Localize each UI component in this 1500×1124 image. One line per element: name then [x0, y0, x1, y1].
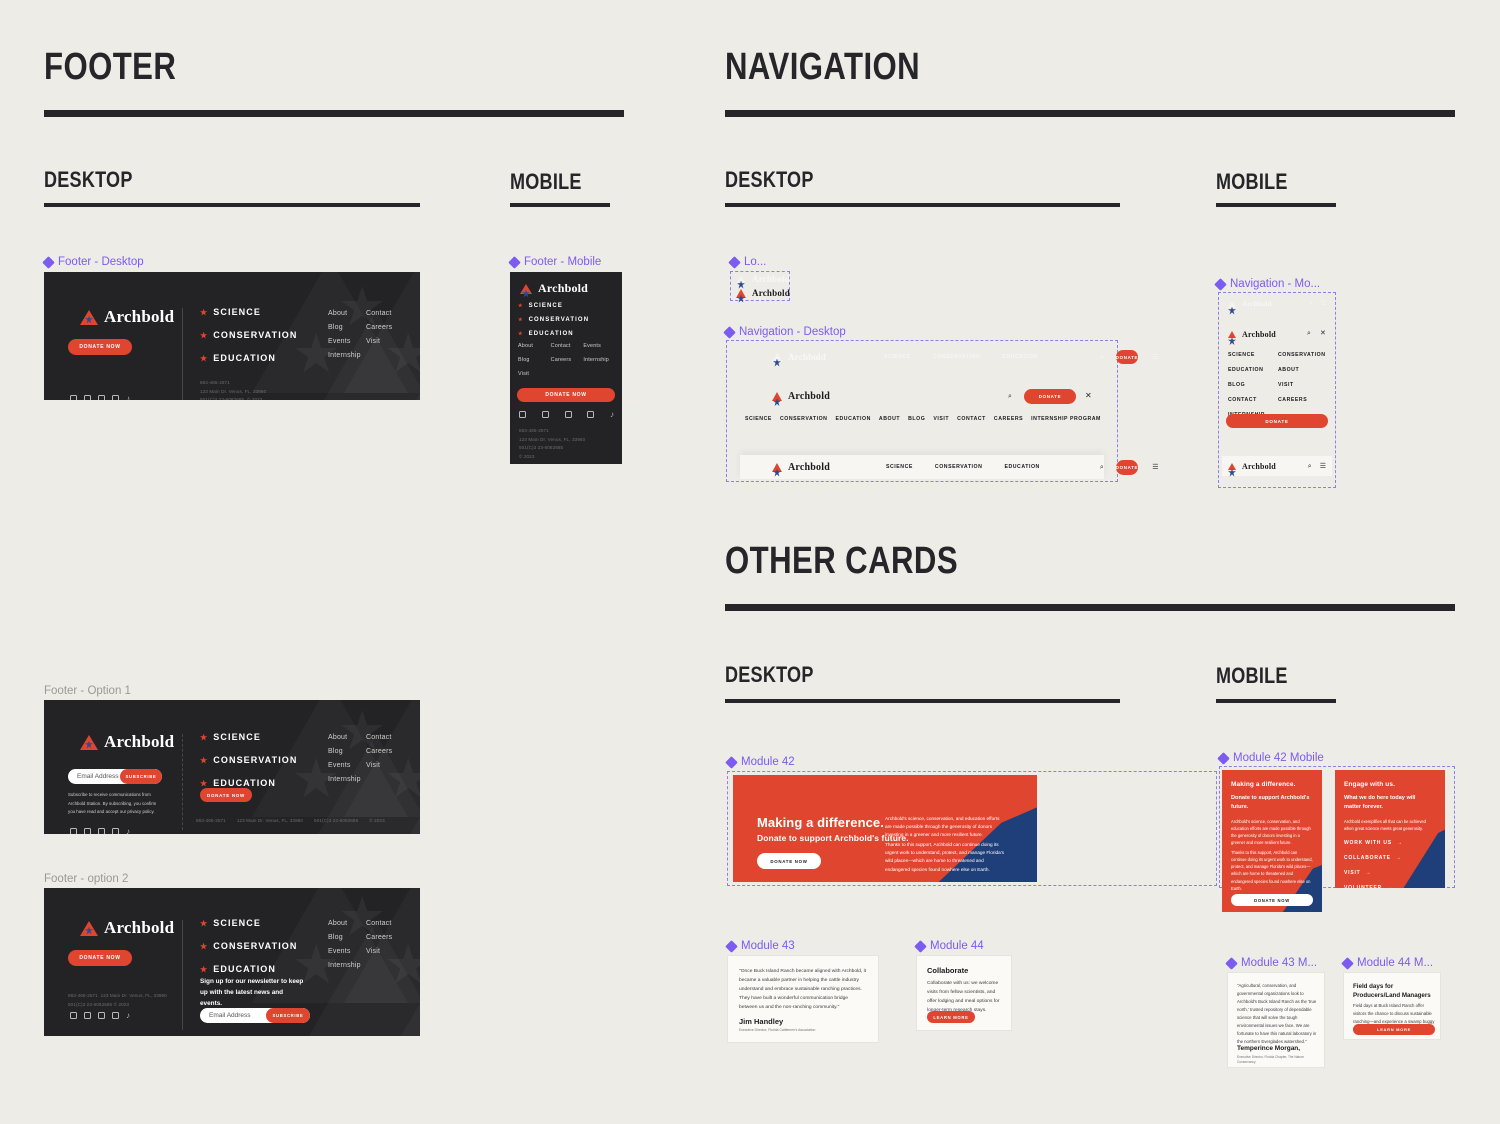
footer-mobile-donate-button[interactable]: DONATE NOW: [517, 388, 615, 402]
module-44-card: Collaborate Collaborate with us: we welc…: [916, 955, 1012, 1031]
figma-label-text: Lo...: [744, 256, 766, 268]
nav-item-visit[interactable]: VISIT: [1278, 382, 1328, 388]
footer-link-careers[interactable]: Careers: [551, 357, 584, 363]
footer-primary-nav: ★SCIENCE ★CONSERVATION ★EDUCATION: [200, 918, 298, 974]
archbold-mark-icon: [772, 463, 782, 472]
footer-link-contact[interactable]: Contact: [366, 310, 392, 317]
nav-mobile-expanded: Archbold ⌕ ✕ SCIENCE CONSERVATION EDUCAT…: [1222, 328, 1332, 438]
nav-desktop-transparent: Archbold SCIENCE CONSERVATION EDUCATION …: [740, 346, 1104, 368]
figma-label-module-44-mobile: Module 44 M...: [1343, 957, 1433, 969]
module-43-mobile-quote: "Agricultural, conservation, and governm…: [1237, 982, 1317, 1046]
archbold-mark-icon: [80, 310, 98, 325]
archbold-wordmark: Archbold: [788, 391, 830, 402]
linkedin-icon[interactable]: [565, 411, 572, 418]
nav-item-conservation[interactable]: CONSERVATION: [780, 416, 828, 422]
footer-address: 123 Main Dr. Venus, FL, 33960: [101, 993, 167, 998]
footer-mobile-primary-nav: ★SCIENCE ★CONSERVATION ★EDUCATION: [518, 303, 589, 337]
module-44-learn-more-button[interactable]: LEARN MORE: [927, 1011, 975, 1023]
archbold-mark-icon: [772, 353, 782, 362]
archbold-wordmark: Archbold: [104, 307, 174, 327]
module-43-mobile-author-role: Executive Director, Florida Chapter, The…: [1237, 1055, 1317, 1066]
footer-links-col-2: Contact Careers Visit: [366, 310, 392, 345]
footer-link-blog[interactable]: Blog: [328, 748, 361, 755]
nav-item-blog[interactable]: BLOG: [1228, 382, 1278, 388]
star-icon: ★: [518, 317, 524, 323]
nav-logo[interactable]: Archbold: [772, 391, 830, 402]
component-diamond-icon: [728, 256, 741, 269]
nav-item-careers[interactable]: CAREERS: [1278, 397, 1328, 403]
footer-link-events[interactable]: Events: [328, 948, 361, 955]
footer-mobile-card: Archbold ★SCIENCE ★CONSERVATION ★EDUCATI…: [510, 272, 622, 464]
footer-nav-science[interactable]: ★SCIENCE: [200, 918, 298, 928]
footer-link-careers[interactable]: Careers: [366, 934, 392, 941]
figma-label-text: Module 42 Mobile: [1233, 752, 1324, 764]
footer-nav-conservation[interactable]: ★CONSERVATION: [200, 941, 298, 951]
instagram-icon[interactable]: [70, 395, 77, 400]
module-42-mobile-card-b: Engage with us. What we do here today wi…: [1335, 770, 1445, 888]
menu-icon[interactable]: ☰: [1320, 463, 1326, 470]
archbold-wordmark: Archbold: [752, 274, 790, 284]
footer-link-events[interactable]: Events: [328, 338, 361, 345]
link-visit[interactable]: VISIT→: [1344, 870, 1403, 876]
star-icon: ★: [200, 756, 208, 765]
subsection-footer-desktop: DESKTOP: [44, 167, 133, 193]
nav-item-science[interactable]: SCIENCE: [884, 354, 911, 360]
footer-link-visit[interactable]: Visit: [366, 948, 392, 955]
component-diamond-icon: [42, 256, 55, 269]
figma-label-footer-desktop: Footer - Desktop: [44, 256, 144, 268]
module-42b-subheading: What we do here today will matter foreve…: [1344, 794, 1434, 812]
section-rule-other-cards: [725, 604, 1455, 611]
nav-item-conservation[interactable]: CONSERVATION: [1278, 352, 1328, 358]
module-42b-paragraph: Archbold exemplifies all that can be ach…: [1344, 818, 1432, 832]
nav-mobile-donate-button[interactable]: DONATE: [1226, 414, 1328, 428]
footer-link-visit[interactable]: Visit: [518, 371, 551, 377]
footer-nav-education[interactable]: ★EDUCATION: [200, 778, 298, 788]
figma-label-module-43-mobile: Module 43 M...: [1227, 957, 1317, 969]
nav-donate-button[interactable]: DONATE: [1024, 389, 1076, 404]
module-42-card: Making a difference. Donate to support A…: [733, 775, 1037, 882]
subscribe-disclaimer: Subscribe to receive communications from…: [68, 791, 162, 817]
archbold-mark-icon: [736, 289, 746, 298]
module-42-donate-button[interactable]: DONATE NOW: [757, 853, 821, 869]
logo-dark-variant: Archbold: [736, 288, 790, 298]
footer-social-links: ♪: [70, 395, 130, 400]
module-42-heading: Making a difference.: [757, 815, 884, 830]
logo-light-variant: Archbold: [736, 274, 790, 284]
facebook-icon[interactable]: [84, 395, 91, 400]
youtube-icon[interactable]: [587, 411, 594, 418]
component-diamond-icon: [723, 326, 736, 339]
nav-logo[interactable]: Archbold: [1228, 330, 1276, 339]
star-icon: ★: [200, 919, 208, 928]
archbold-mark-icon: [1228, 331, 1236, 338]
module-42-mobile-card-a: Making a difference. Donate to support A…: [1222, 770, 1322, 912]
star-icon: ★: [200, 779, 208, 788]
star-icon: ★: [518, 303, 524, 309]
linkedin-icon[interactable]: [98, 395, 105, 400]
footer-link-internship[interactable]: Internship: [328, 776, 361, 783]
archbold-wordmark: Archbold: [752, 288, 790, 298]
newsletter-form[interactable]: Email Address SUBSCRIBE: [200, 1008, 310, 1023]
archbold-wordmark: Archbold: [1242, 300, 1272, 308]
close-icon[interactable]: ✕: [1085, 392, 1092, 400]
star-icon: ★: [200, 331, 208, 340]
arrow-right-icon: →: [1387, 885, 1393, 888]
footer-link-internship[interactable]: Internship: [583, 357, 616, 363]
component-diamond-icon: [1217, 752, 1230, 765]
link-work-with-us[interactable]: WORK WITH US→: [1344, 840, 1403, 846]
figma-label-text: Module 42: [741, 756, 795, 768]
archbold-wordmark: Archbold: [538, 281, 588, 296]
figma-label-nav-desktop: Navigation - Desktop: [725, 326, 846, 338]
footer-mobile-logo[interactable]: Archbold: [520, 281, 588, 296]
footer-phone: 863-465-2571: [200, 379, 266, 388]
label-footer-option-2: Footer - option 2: [44, 873, 128, 885]
archbold-wordmark: Archbold: [1242, 330, 1276, 339]
archbold-wordmark: Archbold: [104, 732, 174, 752]
archbold-mark-icon: [520, 284, 532, 294]
figma-label-text: Footer - Mobile: [524, 256, 601, 268]
nav-item-science[interactable]: SCIENCE: [886, 464, 913, 470]
menu-icon[interactable]: ☰: [1152, 354, 1158, 361]
footer-donate-button[interactable]: DONATE NOW: [68, 950, 132, 966]
subsection-cards-desktop: DESKTOP: [725, 662, 814, 688]
nav-logo[interactable]: Archbold: [772, 462, 830, 473]
archbold-wordmark: Archbold: [788, 352, 826, 362]
youtube-icon[interactable]: [112, 1012, 119, 1019]
footer-divider: [182, 920, 183, 1030]
nav-item-education[interactable]: EDUCATION: [835, 416, 870, 422]
email-input-placeholder[interactable]: Email Address: [200, 1012, 266, 1019]
footer-mobile-nav-science[interactable]: ★SCIENCE: [518, 303, 589, 309]
footer-links-col-1: About Blog Events Internship: [328, 310, 361, 359]
footer-link-about[interactable]: About: [328, 734, 361, 741]
nav-donate-button[interactable]: DONATE: [1116, 460, 1138, 475]
subsection-rule-footer-desktop: [44, 203, 420, 207]
figma-label-module-44: Module 44: [916, 940, 984, 952]
nav-item-internship-program[interactable]: INTERNSHIP PROGRAM: [1031, 416, 1101, 422]
star-icon: ★: [200, 733, 208, 742]
facebook-icon[interactable]: [542, 411, 549, 418]
component-diamond-icon: [914, 940, 927, 953]
newsletter-form[interactable]: Email Address SUBSCRIBE: [68, 769, 162, 784]
archbold-mark-icon: [80, 921, 98, 936]
component-diamond-icon: [1341, 957, 1354, 970]
search-icon[interactable]: ⌕: [1307, 330, 1311, 337]
footer-link-visit[interactable]: Visit: [366, 762, 392, 769]
module-42b-heading: Engage with us.: [1344, 781, 1395, 788]
footer-link-about[interactable]: About: [328, 920, 361, 927]
footer-tax-id: 501(C)3 23-6082685: [314, 817, 358, 826]
module-44-title: Collaborate: [927, 966, 968, 975]
footer-link-contact[interactable]: Contact: [366, 734, 392, 741]
footer-nav-conservation[interactable]: ★CONSERVATION: [200, 755, 298, 765]
instagram-icon[interactable]: [70, 1012, 77, 1019]
footer-link-careers[interactable]: Careers: [366, 748, 392, 755]
figma-label-text: Module 43 M...: [1241, 957, 1317, 969]
star-icon: ★: [200, 308, 208, 317]
arrow-right-icon: →: [1397, 840, 1403, 846]
nav-item-education[interactable]: EDUCATION: [1004, 464, 1039, 470]
figma-label-text: Module 44 M...: [1357, 957, 1433, 969]
footer-link-about[interactable]: About: [328, 310, 361, 317]
nav-mobile-transparent: Archbold ⌕ ☰: [1222, 296, 1332, 312]
close-icon[interactable]: ✕: [1320, 330, 1326, 337]
nav-desktop-expanded: Archbold ⌕ DONATE ✕ SCIENCE CONSERVATION…: [740, 388, 1104, 434]
footer-donate-button[interactable]: DONATE NOW: [200, 788, 252, 802]
star-icon: ★: [200, 942, 208, 951]
archbold-wordmark: Archbold: [788, 462, 830, 473]
component-diamond-icon: [725, 940, 738, 953]
footer-option-1-card: ★ ★ ★ Archbold Email Address SUBSCRIBE S…: [44, 700, 420, 834]
footer-link-contact[interactable]: Contact: [366, 920, 392, 927]
component-diamond-icon: [1214, 278, 1227, 291]
module-43-author-name: Jim Handley: [739, 1017, 783, 1026]
footer-mobile-nav-education[interactable]: ★EDUCATION: [518, 331, 589, 337]
section-title-other-cards: OTHER CARDS: [725, 540, 958, 583]
footer-nav-education[interactable]: ★EDUCATION: [200, 964, 298, 974]
figma-label-logo: Lo...: [730, 256, 766, 268]
subsection-rule-nav-mobile: [1216, 203, 1336, 207]
tiktok-icon[interactable]: ♪: [126, 828, 130, 834]
footer-logo[interactable]: Archbold: [80, 918, 174, 938]
footer-phone: 863-465-2571: [68, 993, 98, 998]
footer-nav-conservation[interactable]: ★CONSERVATION: [200, 330, 298, 340]
star-icon: ★: [518, 331, 524, 337]
subsection-rule-footer-mobile: [510, 203, 610, 207]
module-42-mobile-paragraph-1: Archbold's science, conservation, and ed…: [1231, 818, 1313, 847]
figma-label-text: Footer - Desktop: [58, 256, 144, 268]
linkedin-icon[interactable]: [98, 828, 105, 834]
nav-logo[interactable]: Archbold: [772, 352, 826, 362]
footer-tax-id: 501(C)3 23-6082685: [68, 1002, 112, 1007]
footer-copyright: © 2023: [247, 397, 262, 400]
module-44-mobile-title: Field days for Producers/Land Managers: [1353, 982, 1435, 1001]
footer-phone: 863-465-2571: [519, 427, 585, 436]
youtube-icon[interactable]: [112, 828, 119, 834]
star-icon: ★: [200, 354, 208, 363]
footer-contact-block: 863-465-2571 123 Main Dr. Venus, FL, 339…: [68, 992, 167, 1009]
nav-item-about[interactable]: ABOUT: [879, 416, 900, 422]
footer-mobile-social-links: ♪: [519, 411, 614, 418]
footer-link-events[interactable]: Events: [328, 762, 361, 769]
nav-item-conservation[interactable]: CONSERVATION: [935, 464, 983, 470]
footer-nav-science[interactable]: ★SCIENCE: [200, 732, 298, 742]
nav-logo[interactable]: Archbold: [1228, 300, 1272, 308]
tiktok-icon[interactable]: ♪: [126, 395, 130, 400]
footer-primary-nav: ★SCIENCE ★CONSERVATION ★EDUCATION: [200, 307, 298, 363]
link-volunteer[interactable]: VOLUNTEER→: [1344, 885, 1403, 888]
footer-address: 123 Main Dr. Venus, FL, 33960: [519, 436, 585, 445]
footer-primary-nav: ★SCIENCE ★CONSERVATION ★EDUCATION: [200, 732, 298, 788]
footer-mobile-links: About Contact Events Blog Careers Intern…: [518, 343, 616, 377]
footer-divider: [182, 734, 183, 830]
archbold-mark-icon: [80, 735, 98, 750]
module-42-paragraph-1: Archbold's science, conservation, and ed…: [885, 815, 1007, 840]
figma-label-text: Navigation - Desktop: [739, 326, 846, 338]
archbold-wordmark: Archbold: [104, 918, 174, 938]
footer-link-visit[interactable]: Visit: [366, 338, 392, 345]
footer-link-blog[interactable]: Blog: [328, 934, 361, 941]
search-icon[interactable]: ⌕: [1008, 393, 1012, 400]
subsection-footer-mobile: MOBILE: [510, 169, 582, 195]
tiktok-icon[interactable]: ♪: [610, 411, 614, 418]
nav-desktop-solid: Archbold SCIENCE CONSERVATION EDUCATION …: [740, 455, 1104, 479]
footer-copyright: © 2023: [369, 817, 384, 826]
nav-logo[interactable]: Archbold: [1228, 462, 1276, 471]
nav-item-contact[interactable]: CONTACT: [957, 416, 986, 422]
subscribe-button[interactable]: SUBSCRIBE: [120, 769, 162, 784]
module-42-mobile-heading: Making a difference.: [1231, 781, 1296, 788]
footer-social-links: ♪: [70, 828, 130, 834]
nav-mobile-solid: Archbold ⌕ ☰: [1222, 456, 1332, 476]
module-43-mobile-author-name: Temperince Morgan,: [1237, 1045, 1300, 1052]
footer-copyright: © 2023: [114, 1002, 129, 1007]
figma-label-text: Module 44: [930, 940, 984, 952]
tiktok-icon[interactable]: ♪: [126, 1012, 130, 1019]
module-42-paragraph-2: Thanks to this support, Archbold can con…: [885, 841, 1007, 874]
footer-option-2-card: ★ ★ ★ Archbold DONATE NOW ★SCIENCE ★CONS…: [44, 888, 420, 1036]
footer-logo[interactable]: Archbold: [80, 732, 174, 752]
nav-item-blog[interactable]: BLOG: [908, 416, 925, 422]
instagram-icon[interactable]: [70, 828, 77, 834]
search-icon[interactable]: ⌕: [1308, 463, 1312, 470]
module-43-quote: "Once Buck Island Ranch became aligned w…: [739, 967, 867, 1012]
section-title-navigation: NAVIGATION: [725, 46, 920, 89]
archbold-mark-icon: [1228, 301, 1236, 308]
figma-label-module-42-mobile: Module 42 Mobile: [1219, 752, 1324, 764]
search-icon[interactable]: ⌕: [1309, 301, 1312, 307]
nav-item-conservation[interactable]: CONSERVATION: [933, 354, 981, 360]
archbold-mark-icon: [772, 392, 782, 401]
module-44-mobile-learn-more-button[interactable]: LEARN MORE: [1353, 1024, 1435, 1035]
nav-expanded-items: SCIENCE CONSERVATION EDUCATION ABOUT BLO…: [745, 416, 1101, 422]
module-43-card: "Once Buck Island Ranch became aligned w…: [727, 955, 879, 1043]
module-44-body: Collaborate with us: we welcome visits f…: [927, 979, 1005, 1015]
nav-donate-button[interactable]: DONATE: [1116, 350, 1138, 364]
search-icon[interactable]: ⌕: [1100, 354, 1104, 361]
footer-donate-button[interactable]: DONATE NOW: [68, 339, 132, 355]
module-42b-links: WORK WITH US→ COLLABORATE→ VISIT→ VOLUNT…: [1344, 840, 1403, 888]
subsection-rule-cards-desktop: [725, 699, 1120, 703]
footer-link-contact[interactable]: Contact: [551, 343, 584, 349]
figma-label-text: Navigation - Mo...: [1230, 278, 1320, 290]
figma-label-module-43: Module 43: [727, 940, 795, 952]
footer-link-about[interactable]: About: [518, 343, 551, 349]
footer-contact-block: 863-465-2571 123 Main Dr. Venus, FL, 339…: [200, 379, 266, 400]
facebook-icon[interactable]: [84, 828, 91, 834]
archbold-wordmark: Archbold: [1242, 462, 1276, 471]
footer-mobile-nav-conservation[interactable]: ★CONSERVATION: [518, 317, 589, 323]
nav-item-science[interactable]: SCIENCE: [1228, 352, 1278, 358]
subsection-rule-cards-mobile: [1216, 699, 1336, 703]
footer-address: 123 Main Dr. Venus, FL, 33960: [200, 388, 266, 397]
label-footer-option-1: Footer - Option 1: [44, 685, 131, 697]
star-icon: ★: [200, 965, 208, 974]
subsection-nav-desktop: DESKTOP: [725, 167, 814, 193]
menu-icon[interactable]: ☰: [1321, 301, 1326, 307]
nav-item-education[interactable]: EDUCATION: [1228, 367, 1278, 373]
youtube-icon[interactable]: [112, 395, 119, 400]
figma-label-nav-mobile: Navigation - Mo...: [1216, 278, 1320, 290]
footer-address: 123 Main Dr. Venus, FL, 33960: [237, 817, 303, 826]
footer-mobile-contact: 863-465-2571 123 Main Dr. Venus, FL, 339…: [519, 427, 585, 462]
footer-contact-inline: 863-465-2571 123 Main Dr. Venus, FL, 339…: [196, 817, 385, 826]
subsection-rule-nav-desktop: [725, 203, 1120, 207]
module-42-mobile-donate-button[interactable]: DONATE NOW: [1231, 894, 1313, 906]
figma-label-module-42: Module 42: [727, 756, 795, 768]
component-diamond-icon: [725, 756, 738, 769]
link-collaborate[interactable]: COLLABORATE→: [1344, 855, 1403, 861]
section-rule-navigation: [725, 110, 1455, 117]
nav-item-about[interactable]: ABOUT: [1278, 367, 1328, 373]
newsletter-heading: Sign up for our newsletter to keep up wi…: [200, 977, 305, 1010]
footer-link-careers[interactable]: Careers: [366, 324, 392, 331]
footer-links-col-2: Contact Careers Visit: [366, 734, 392, 769]
module-43-author-role: Executive Director, Florida Cattlemen's …: [739, 1028, 867, 1034]
footer-link-internship[interactable]: Internship: [328, 962, 361, 969]
module-42-mobile-subheading: Donate to support Archbold's future.: [1231, 794, 1311, 812]
nav-item-careers[interactable]: CAREERS: [994, 416, 1023, 422]
arrow-right-icon: →: [1366, 870, 1372, 876]
footer-copyright: © 2023: [519, 453, 585, 462]
figma-label-footer-mobile: Footer - Mobile: [510, 256, 601, 268]
footer-links-col-1: About Blog Events Internship: [328, 734, 361, 783]
footer-link-internship[interactable]: Internship: [328, 352, 361, 359]
footer-link-blog[interactable]: Blog: [328, 324, 361, 331]
section-rule-footer: [44, 110, 624, 117]
footer-link-blog[interactable]: Blog: [518, 357, 551, 363]
footer-nav-education[interactable]: ★EDUCATION: [200, 353, 298, 363]
footer-phone: 863-465-2571: [196, 817, 226, 826]
nav-item-contact[interactable]: CONTACT: [1228, 397, 1278, 403]
footer-tax-id: 501(C)3 23-6082685: [519, 444, 585, 453]
design-system-board: FOOTER DESKTOP MOBILE Footer - Desktop ★…: [0, 0, 1500, 1124]
module-42-mobile-paragraph-2: Thanks to this support, Archbold can con…: [1231, 849, 1313, 892]
footer-logo[interactable]: Archbold: [80, 307, 174, 327]
footer-links-col-2: Contact Careers Visit: [366, 920, 392, 955]
instagram-icon[interactable]: [519, 411, 526, 418]
section-title-footer: FOOTER: [44, 46, 176, 89]
arrow-right-icon: →: [1396, 855, 1402, 861]
nav-item-visit[interactable]: VISIT: [933, 416, 949, 422]
nav-item-science[interactable]: SCIENCE: [745, 416, 772, 422]
nav-item-education[interactable]: EDUCATION: [1002, 354, 1037, 360]
component-diamond-icon: [508, 256, 521, 269]
linkedin-icon[interactable]: [98, 1012, 105, 1019]
footer-nav-science[interactable]: ★SCIENCE: [200, 307, 298, 317]
menu-icon[interactable]: ☰: [1152, 464, 1158, 471]
footer-social-links: ♪: [70, 1012, 130, 1019]
footer-tax-id: 501(C)3 23-6082685: [200, 397, 244, 400]
archbold-mark-icon: [736, 275, 746, 284]
footer-desktop-card: ★ ★ ★ Archbold DONATE NOW ★SCIENCE ★CONS…: [44, 272, 420, 400]
facebook-icon[interactable]: [84, 1012, 91, 1019]
email-input-placeholder[interactable]: Email Address: [68, 773, 120, 780]
figma-label-text: Module 43: [741, 940, 795, 952]
footer-link-events[interactable]: Events: [583, 343, 616, 349]
footer-links-col-1: About Blog Events Internship: [328, 920, 361, 969]
archbold-mark-icon: [1228, 463, 1236, 470]
subscribe-button[interactable]: SUBSCRIBE: [266, 1008, 310, 1023]
subsection-nav-mobile: MOBILE: [1216, 169, 1288, 195]
subsection-cards-mobile: MOBILE: [1216, 663, 1288, 689]
component-diamond-icon: [1225, 957, 1238, 970]
module-43-mobile-card: "Agricultural, conservation, and governm…: [1227, 972, 1325, 1068]
search-icon[interactable]: ⌕: [1100, 464, 1104, 471]
module-44-mobile-card: Field days for Producers/Land Managers F…: [1343, 972, 1441, 1040]
